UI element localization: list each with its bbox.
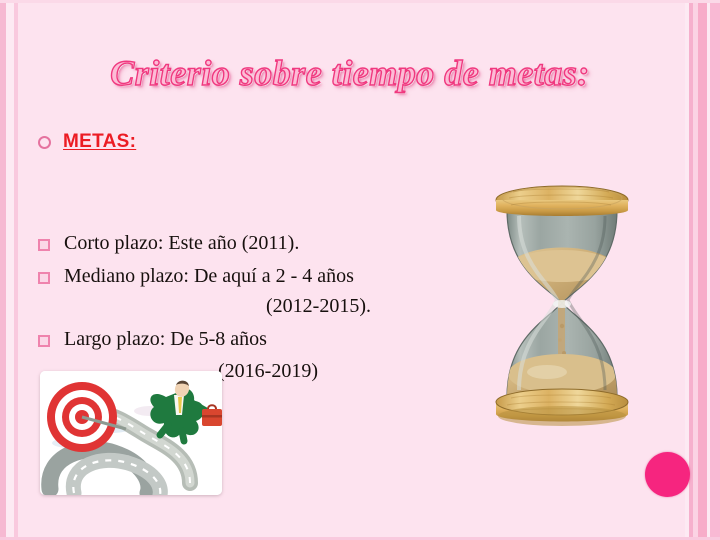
list-item: Largo plazo: De 5-8 años bbox=[38, 327, 458, 353]
slide-canvas: Criterio sobre tiempo de metas: METAS: C… bbox=[0, 0, 720, 540]
right-stripe-1 bbox=[710, 0, 720, 540]
list-item: Corto plazo: Este año (2011). bbox=[38, 231, 458, 257]
top-border-line bbox=[0, 0, 720, 3]
square-bullet-icon bbox=[38, 335, 50, 347]
hourglass-image bbox=[483, 176, 641, 431]
square-bullet-icon bbox=[38, 272, 50, 284]
target-goal-clipart bbox=[40, 371, 222, 495]
bullet-list: Corto plazo: Este año (2011). Mediano pl… bbox=[38, 231, 458, 385]
metas-heading: METAS: bbox=[38, 131, 136, 153]
list-item-continuation: (2016-2019) bbox=[218, 359, 458, 385]
list-item-continuation: (2012-2015). bbox=[266, 294, 458, 320]
list-item-label: Mediano plazo: De aquí a 2 - 4 años bbox=[64, 264, 354, 290]
list-item-label: Corto plazo: Este año (2011). bbox=[64, 231, 299, 257]
square-bullet-icon bbox=[38, 239, 50, 251]
slide-title: Criterio sobre tiempo de metas: bbox=[0, 52, 700, 94]
pink-circle-decoration bbox=[645, 452, 690, 497]
list-item-label: Largo plazo: De 5-8 años bbox=[64, 327, 267, 353]
ring-bullet-icon bbox=[38, 136, 51, 149]
right-stripe-2 bbox=[707, 0, 710, 540]
metas-label: METAS: bbox=[63, 131, 136, 153]
list-item: Mediano plazo: De aquí a 2 - 4 años bbox=[38, 264, 458, 290]
